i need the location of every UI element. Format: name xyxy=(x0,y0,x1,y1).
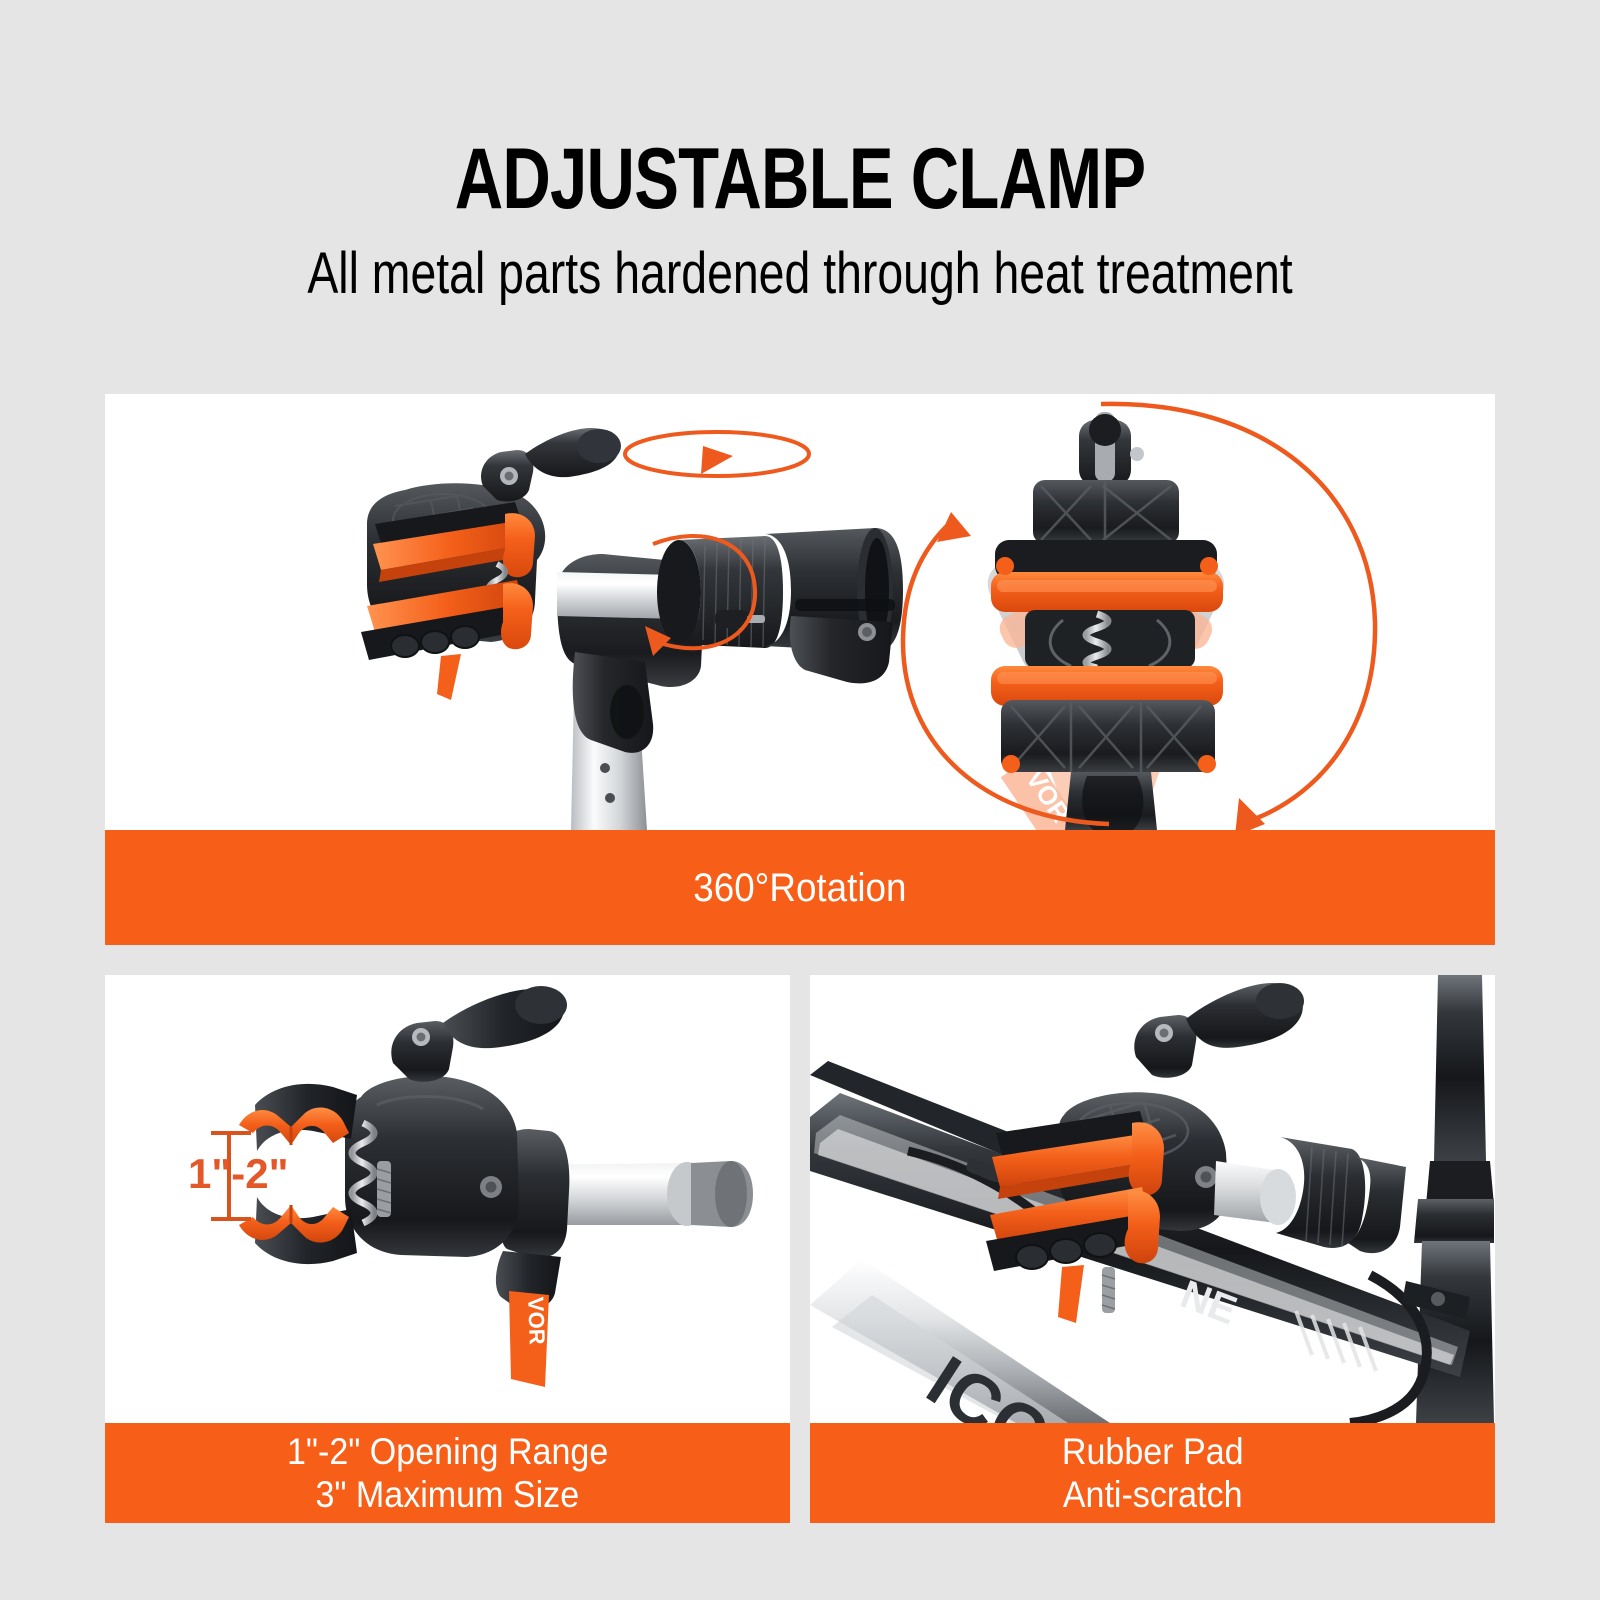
caption-rotation: 360°Rotation xyxy=(105,830,1495,945)
caption-rubber-line1: Rubber Pad xyxy=(1062,1430,1244,1473)
cam-lever xyxy=(481,428,621,502)
cam-lever-top xyxy=(1079,412,1144,486)
annotation-opening-range: 1"-2" xyxy=(188,1150,289,1198)
caption-opening-range: 1"-2" Opening Range 3" Maximum Size xyxy=(105,1423,790,1523)
lower-jaw-top xyxy=(991,666,1223,773)
brand-tag: VOR xyxy=(509,1291,550,1387)
cam-lever-bike xyxy=(1134,983,1304,1078)
panel-opening-range: VOR 1"-2" Opening Range 3" Maximum Size xyxy=(105,975,790,1523)
caption-rubber-line2: Anti-scratch xyxy=(1063,1473,1243,1516)
upper-jaw-top xyxy=(991,540,1223,612)
rotation-illustration: VOR xyxy=(105,394,1495,830)
clamp-topdown-view: VOR xyxy=(903,404,1375,830)
panel-rotation: VOR xyxy=(105,394,1495,945)
clamp-perspective-view xyxy=(361,428,903,830)
page-subtitle: All metal parts hardened through heat tr… xyxy=(160,242,1440,306)
panel-rubber-pad: ICOL NE xyxy=(810,975,1495,1523)
clamp-base-plate xyxy=(1033,480,1179,544)
rotation-arrow-horizontal xyxy=(625,432,809,476)
caption-rotation-line1: 360°Rotation xyxy=(693,865,906,911)
opening-range-illustration: VOR xyxy=(105,975,790,1423)
rubber-pad-illustration: ICOL NE xyxy=(810,975,1495,1423)
caption-opening-line2: 3" Maximum Size xyxy=(316,1473,580,1516)
caption-opening-line1: 1"-2" Opening Range xyxy=(287,1430,608,1473)
rotation-photo: VOR xyxy=(105,394,1495,830)
rubber-pad-photo: ICOL NE xyxy=(810,975,1495,1423)
page-title: ADJUSTABLE CLAMP xyxy=(176,133,1424,225)
header: ADJUSTABLE CLAMP All metal parts hardene… xyxy=(0,0,1600,394)
opening-range-photo: VOR xyxy=(105,975,790,1423)
cam-lever-side xyxy=(391,986,567,1082)
svg-text:VOR: VOR xyxy=(523,1296,550,1345)
caption-rubber-pad: Rubber Pad Anti-scratch xyxy=(810,1423,1495,1523)
center-spring-housing xyxy=(1025,610,1195,668)
rotating-collar xyxy=(657,536,783,648)
